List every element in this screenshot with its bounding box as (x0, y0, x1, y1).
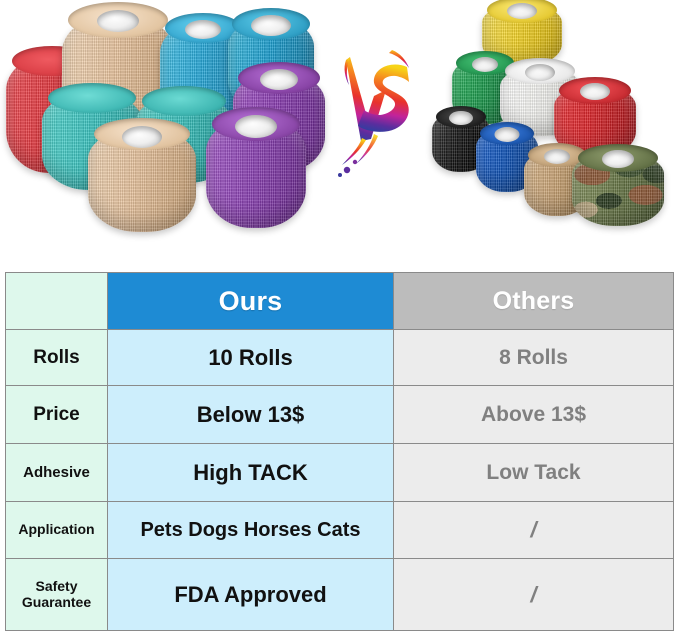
row-others-adhesive: Low Tack (394, 444, 674, 502)
row-ours-price: Below 13$ (108, 386, 394, 444)
table-row: Application Pets Dogs Horses Cats / (6, 502, 674, 559)
row-label-adhesive: Adhesive (6, 444, 108, 502)
table-header-row: Ours Others (6, 273, 674, 330)
row-label-price: Price (6, 386, 108, 444)
row-label-rolls: Rolls (6, 330, 108, 386)
bandage-roll-purple-front (206, 118, 306, 228)
row-ours-adhesive: High TACK (108, 444, 394, 502)
row-others-safety-guarantee: / (394, 559, 674, 631)
row-label-application: Application (6, 502, 108, 559)
table-row: Safety Guarantee FDA Approved / (6, 559, 674, 631)
row-ours-safety-guarantee: FDA Approved (108, 559, 394, 631)
hero-product-comparison-banner (0, 0, 679, 268)
header-others: Others (394, 273, 674, 330)
ours-bandage-rolls-photo (0, 0, 335, 260)
row-others-price: Above 13$ (394, 386, 674, 444)
row-others-rolls: 8 Rolls (394, 330, 674, 386)
table-row: Rolls 10 Rolls 8 Rolls (6, 330, 674, 386)
table-row: Adhesive High TACK Low Tack (6, 444, 674, 502)
row-label-safety-guarantee: Safety Guarantee (6, 559, 108, 631)
table-row: Price Below 13$ Above 13$ (6, 386, 674, 444)
row-others-application: / (394, 502, 674, 559)
header-blank-cell (6, 273, 108, 330)
others-bandage-rolls-photo (420, 0, 679, 260)
row-label-safety-line2: Guarantee (6, 595, 107, 611)
row-label-safety-line1: Safety (6, 579, 107, 595)
bandage-roll-camo (572, 152, 664, 226)
header-ours: Ours (108, 273, 394, 330)
row-ours-rolls: 10 Rolls (108, 330, 394, 386)
row-ours-application: Pets Dogs Horses Cats (108, 502, 394, 559)
product-comparison-table: Ours Others Rolls 10 Rolls 8 Rolls Price… (5, 272, 674, 631)
bandage-roll-tan-front (88, 128, 196, 232)
